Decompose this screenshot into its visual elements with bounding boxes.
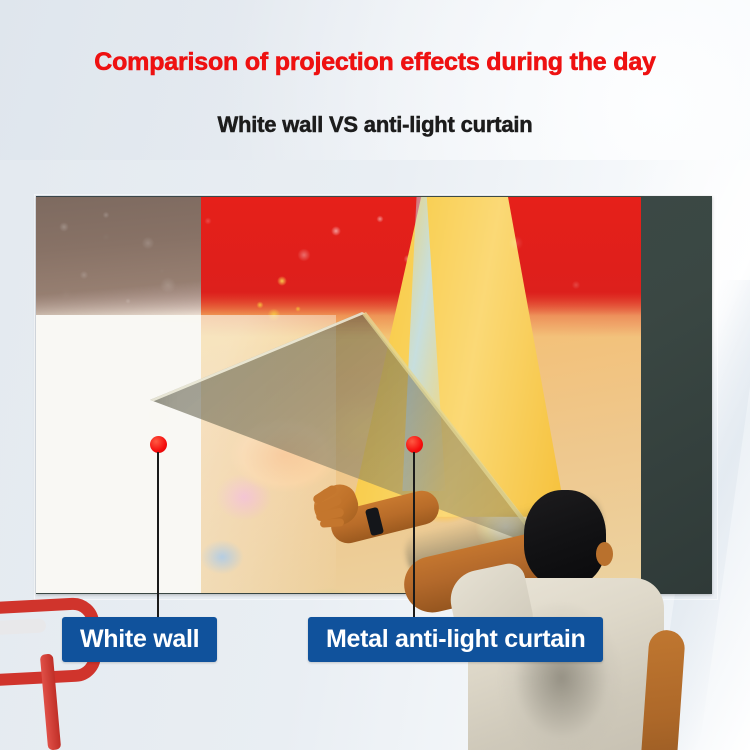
callout-label-metal-curtain: Metal anti-light curtain [308,617,603,662]
page-title: Comparison of projection effects during … [0,48,750,77]
callout-label-white-wall: White wall [62,617,217,662]
head [524,490,606,586]
callout-leader-line-white-wall [157,452,159,618]
callout-marker-white-wall [150,436,167,453]
page-subtitle: White wall VS anti-light curtain [0,112,750,138]
callout-marker-metal-curtain [406,436,423,453]
finger [320,518,344,528]
ear [596,542,613,566]
callout-leader-line-metal-curtain [413,452,415,618]
poster-canvas: Comparison of projection effects during … [0,0,750,750]
